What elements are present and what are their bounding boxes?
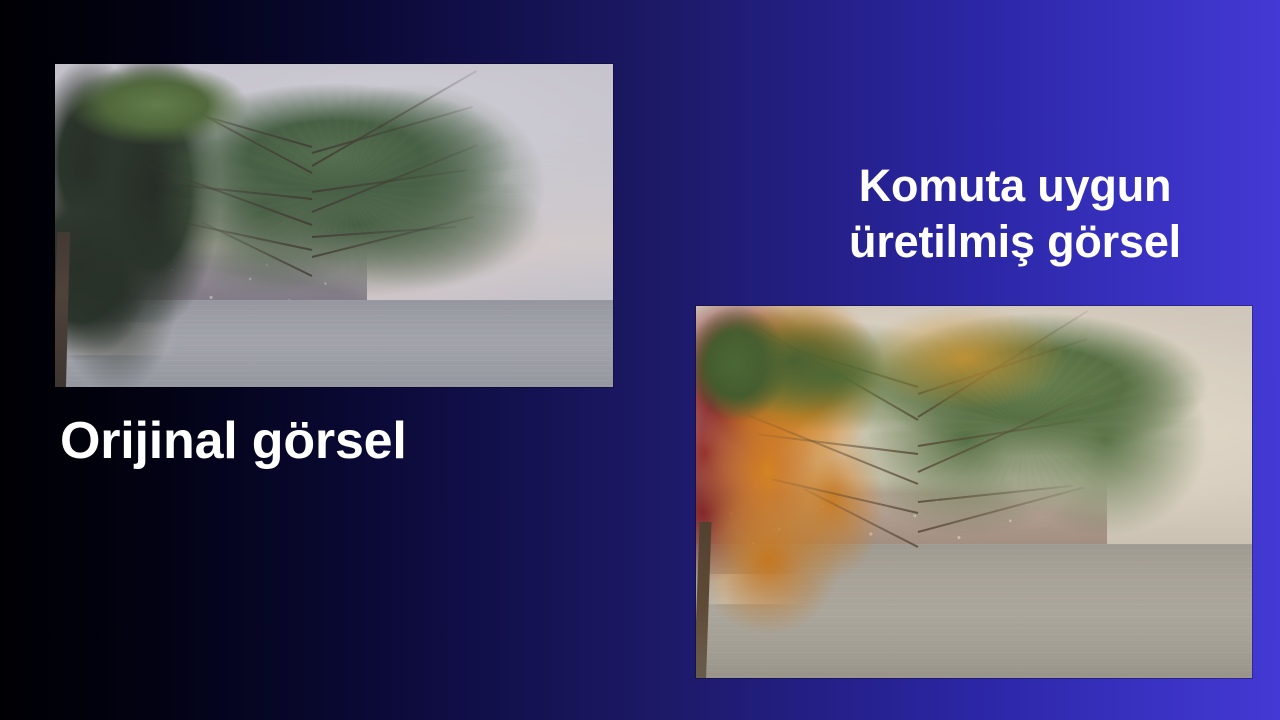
color-grade-overlay <box>55 64 613 387</box>
original-image-caption: Orijinal görsel <box>60 410 407 472</box>
generated-image <box>696 306 1252 678</box>
color-grade-overlay <box>696 306 1252 678</box>
generated-caption-line-2: üretilmiş görsel <box>715 214 1280 270</box>
generated-image-caption: Komuta uygun üretilmiş görsel <box>715 158 1280 270</box>
generated-caption-line-1: Komuta uygun <box>715 158 1280 214</box>
comparison-slide: Orijinal görsel Komuta uygun üretilmiş g… <box>0 0 1280 720</box>
original-image <box>55 64 613 387</box>
